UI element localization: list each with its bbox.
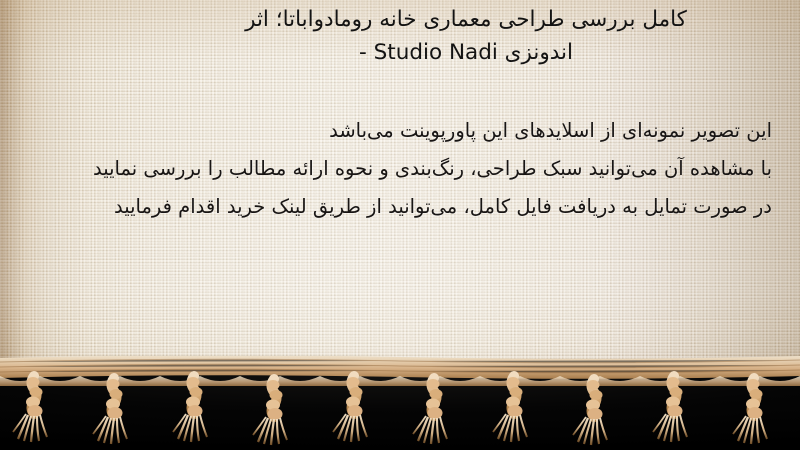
slide-title-line-1: کامل بررسی طراحی معماری خانه رومادواباتا…: [150, 4, 782, 37]
slide-title-line-2: اندونزی Studio Nadi -: [150, 37, 782, 70]
carpet-fringe: [0, 356, 800, 382]
slide-title: کامل بررسی طراحی معماری خانه رومادواباتا…: [0, 4, 800, 69]
slide-body-text: این تصویر نمونه‌ای از اسلایدهای این پاور…: [0, 112, 772, 226]
body-line-2: با مشاهده آن می‌توانید سبک طراحی، رنگ‌بن…: [0, 150, 772, 188]
body-line-1: این تصویر نمونه‌ای از اسلایدهای این پاور…: [0, 112, 772, 150]
carpet-tassel-fringe-icon: [0, 356, 800, 450]
body-line-3: در صورت تمایل به دریافت فایل کامل، می‌تو…: [0, 188, 772, 226]
slide-canvas: کامل بررسی طراحی معماری خانه رومادواباتا…: [0, 0, 800, 450]
